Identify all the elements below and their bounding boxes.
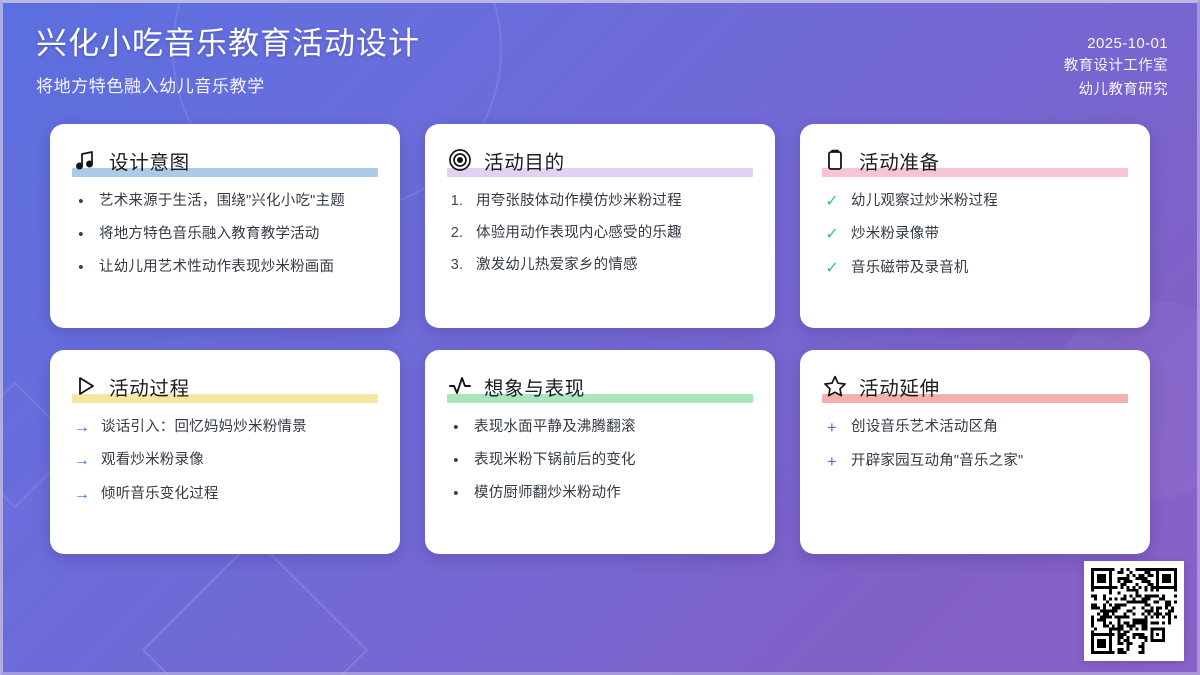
card-activity-process[interactable]: 活动过程→谈话引入：回忆妈妈炒米粉情景→观看炒米粉录像→倾听音乐变化过程	[50, 350, 400, 554]
card-title: 想象与表现	[484, 372, 585, 401]
cards-grid: 设计意图•艺术来源于生活，围绕"兴化小吃"主题•将地方特色音乐融入教育教学活动•…	[50, 124, 1150, 554]
list-item[interactable]: →谈话引入：回忆妈妈炒米粉情景	[72, 417, 378, 439]
list-item-text: 观看炒米粉录像	[101, 450, 378, 471]
header-department: 幼儿教育研究	[1064, 79, 1168, 102]
card-header: 想象与表现	[447, 369, 753, 403]
list-item[interactable]: ✓幼儿观察过炒米粉过程	[822, 191, 1128, 213]
list-marker-check-icon: ✓	[822, 258, 842, 280]
list-item[interactable]: 2.体验用动作表现内心感受的乐趣	[447, 223, 753, 244]
list-item-text: 创设音乐艺术活动区角	[851, 417, 1128, 438]
card-item-list: ✓幼儿观察过炒米粉过程✓炒米粉录像带✓音乐磁带及录音机	[822, 191, 1128, 280]
list-item-text: 将地方特色音乐融入教育教学活动	[99, 224, 378, 245]
header-title-block: 兴化小吃音乐教育活动设计 将地方特色融入幼儿音乐教学	[36, 26, 420, 97]
card-activity-extension[interactable]: 活动延伸+创设音乐艺术活动区角+开辟家园互动角"音乐之家"	[800, 350, 1150, 554]
card-title: 活动过程	[109, 372, 190, 401]
slide-header: 兴化小吃音乐教育活动设计 将地方特色融入幼儿音乐教学 2025-10-01 教育…	[0, 0, 1200, 120]
list-item[interactable]: ✓炒米粉录像带	[822, 224, 1128, 246]
list-marker-plus-icon: +	[822, 417, 842, 440]
qr-code[interactable]	[1084, 561, 1184, 661]
list-item-text: 体验用动作表现内心感受的乐趣	[476, 223, 753, 244]
list-marker-bullet-icon: •	[72, 191, 90, 213]
list-item-text: 音乐磁带及录音机	[851, 258, 1128, 279]
list-item[interactable]: •表现水面平静及沸腾翻滚	[447, 417, 753, 439]
list-marker-arrow-icon: →	[72, 417, 92, 439]
card-item-list: •表现水面平静及沸腾翻滚•表现米粉下锅前后的变化•模仿厨师翻炒米粉动作	[447, 417, 753, 504]
play-icon	[72, 373, 98, 399]
list-marker-check-icon: ✓	[822, 224, 842, 246]
star-icon	[822, 373, 848, 399]
list-marker-bullet-icon: •	[447, 483, 465, 505]
list-item-text: 艺术来源于生活，围绕"兴化小吃"主题	[99, 191, 378, 212]
list-marker-bullet-icon: •	[72, 257, 90, 279]
card-item-list: 1.用夸张肢体动作模仿炒米粉过程2.体验用动作表现内心感受的乐趣3.激发幼儿热爱…	[447, 191, 753, 276]
list-marker-number-icon: 2.	[447, 223, 467, 244]
list-item-text: 倾听音乐变化过程	[101, 484, 378, 505]
list-marker-number-icon: 3.	[447, 255, 467, 276]
qr-code-image	[1091, 568, 1177, 654]
list-item[interactable]: •将地方特色音乐融入教育教学活动	[72, 224, 378, 246]
list-marker-arrow-icon: →	[72, 450, 92, 472]
page-subtitle: 将地方特色融入幼儿音乐教学	[36, 72, 420, 97]
music-note-icon	[72, 147, 98, 173]
list-item-text: 让幼儿用艺术性动作表现炒米粉画面	[99, 257, 378, 278]
list-item-text: 激发幼儿热爱家乡的情感	[476, 255, 753, 276]
list-item-text: 表现水面平静及沸腾翻滚	[474, 417, 753, 438]
list-item[interactable]: •模仿厨师翻炒米粉动作	[447, 483, 753, 505]
list-item[interactable]: →倾听音乐变化过程	[72, 484, 378, 506]
card-design-intent[interactable]: 设计意图•艺术来源于生活，围绕"兴化小吃"主题•将地方特色音乐融入教育教学活动•…	[50, 124, 400, 328]
list-item-text: 模仿厨师翻炒米粉动作	[474, 483, 753, 504]
card-header: 活动目的	[447, 143, 753, 177]
card-item-list: •艺术来源于生活，围绕"兴化小吃"主题•将地方特色音乐融入教育教学活动•让幼儿用…	[72, 191, 378, 278]
card-header: 设计意图	[72, 143, 378, 177]
clipboard-icon	[822, 147, 848, 173]
list-item-text: 幼儿观察过炒米粉过程	[851, 191, 1128, 212]
header-meta-block: 2025-10-01 教育设计工作室 幼儿教育研究	[1064, 32, 1168, 102]
list-item[interactable]: •艺术来源于生活，围绕"兴化小吃"主题	[72, 191, 378, 213]
list-marker-check-icon: ✓	[822, 191, 842, 213]
list-item[interactable]: 3.激发幼儿热爱家乡的情感	[447, 255, 753, 276]
card-header: 活动延伸	[822, 369, 1128, 403]
activity-pulse-icon	[447, 373, 473, 399]
slide-root: 兴化小吃音乐教育活动设计 将地方特色融入幼儿音乐教学 2025-10-01 教育…	[0, 0, 1200, 675]
list-marker-bullet-icon: •	[447, 450, 465, 472]
header-organization: 教育设计工作室	[1064, 55, 1168, 78]
card-title: 活动延伸	[859, 372, 940, 401]
list-item-text: 开辟家园互动角"音乐之家"	[851, 451, 1128, 472]
list-marker-arrow-icon: →	[72, 484, 92, 506]
list-item-text: 炒米粉录像带	[851, 224, 1128, 245]
list-item[interactable]: →观看炒米粉录像	[72, 450, 378, 472]
list-item[interactable]: ✓音乐磁带及录音机	[822, 258, 1128, 280]
card-activity-goal[interactable]: 活动目的1.用夸张肢体动作模仿炒米粉过程2.体验用动作表现内心感受的乐趣3.激发…	[425, 124, 775, 328]
card-title: 活动准备	[859, 146, 940, 175]
list-marker-plus-icon: +	[822, 451, 842, 474]
card-title: 活动目的	[484, 146, 565, 175]
list-item-text: 谈话引入：回忆妈妈炒米粉情景	[101, 417, 378, 438]
card-activity-prep[interactable]: 活动准备✓幼儿观察过炒米粉过程✓炒米粉录像带✓音乐磁带及录音机	[800, 124, 1150, 328]
card-title: 设计意图	[109, 146, 190, 175]
header-date: 2025-10-01	[1064, 32, 1168, 55]
list-item-text: 用夸张肢体动作模仿炒米粉过程	[476, 191, 753, 212]
list-marker-number-icon: 1.	[447, 191, 467, 212]
target-icon	[447, 147, 473, 173]
card-header: 活动过程	[72, 369, 378, 403]
list-item[interactable]: 1.用夸张肢体动作模仿炒米粉过程	[447, 191, 753, 212]
list-item[interactable]: +开辟家园互动角"音乐之家"	[822, 451, 1128, 474]
list-marker-bullet-icon: •	[72, 224, 90, 246]
list-item[interactable]: +创设音乐艺术活动区角	[822, 417, 1128, 440]
card-header: 活动准备	[822, 143, 1128, 177]
card-item-list: +创设音乐艺术活动区角+开辟家园互动角"音乐之家"	[822, 417, 1128, 474]
list-item[interactable]: •表现米粉下锅前后的变化	[447, 450, 753, 472]
list-item-text: 表现米粉下锅前后的变化	[474, 450, 753, 471]
card-item-list: →谈话引入：回忆妈妈炒米粉情景→观看炒米粉录像→倾听音乐变化过程	[72, 417, 378, 506]
list-item[interactable]: •让幼儿用艺术性动作表现炒米粉画面	[72, 257, 378, 279]
card-imagination-expression[interactable]: 想象与表现•表现水面平静及沸腾翻滚•表现米粉下锅前后的变化•模仿厨师翻炒米粉动作	[425, 350, 775, 554]
page-title: 兴化小吃音乐教育活动设计	[36, 26, 420, 63]
decorative-diamond	[142, 537, 368, 675]
list-marker-bullet-icon: •	[447, 417, 465, 439]
